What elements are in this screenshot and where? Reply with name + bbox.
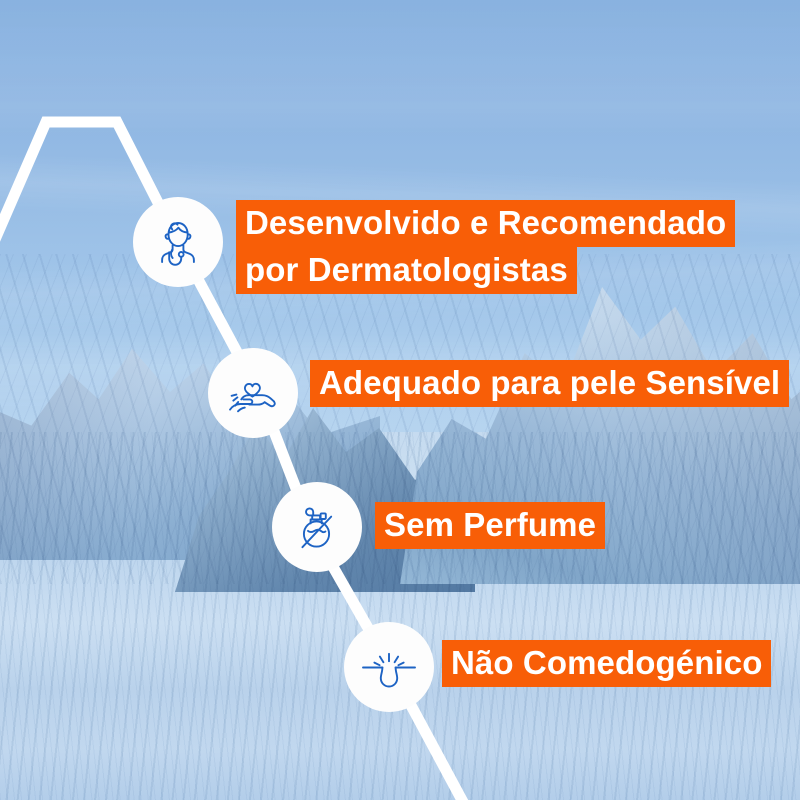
badge-line-1: Adequado para pele Sensível: [310, 360, 789, 407]
doctor-stethoscope-icon: [133, 197, 223, 287]
badge-line-2: por Dermatologistas: [236, 247, 577, 294]
badge-group-fragrance-free: Sem Perfume: [375, 502, 605, 549]
badge-group-sensitive-skin: Adequado para pele Sensível: [310, 360, 789, 407]
badge-group-non-comedogenic: Não Comedogénico: [442, 640, 771, 687]
promo-graphic: Desenvolvido e Recomendado por Dermatolo…: [0, 0, 800, 800]
no-perfume-icon: [272, 482, 362, 572]
badge-line-1: Não Comedogénico: [442, 640, 771, 687]
badge-line-1: Desenvolvido e Recomendado: [236, 200, 735, 247]
hand-heart-icon: [208, 348, 298, 438]
glacier-texture: [0, 432, 800, 800]
badge-line-1: Sem Perfume: [375, 502, 605, 549]
badge-group-dermatologist: Desenvolvido e Recomendado por Dermatolo…: [236, 200, 735, 294]
skin-pore-icon: [344, 622, 434, 712]
